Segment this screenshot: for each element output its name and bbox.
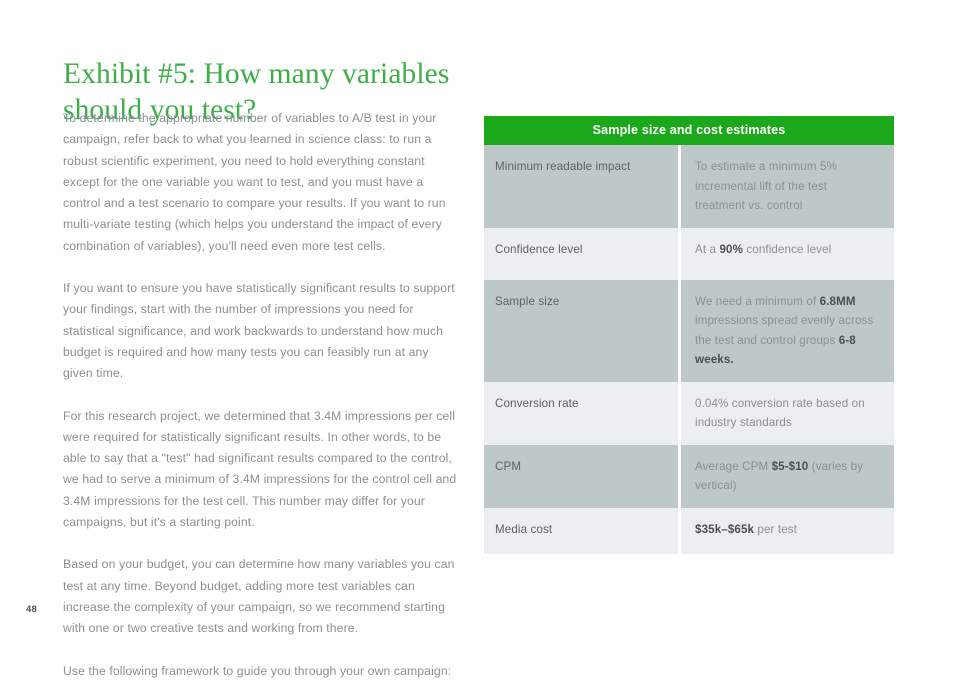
table-body: Minimum readable impactTo estimate a min… (484, 145, 894, 554)
body-paragraph: For this research project, we determined… (63, 406, 459, 534)
table-header-title: Sample size and cost estimates (484, 116, 894, 145)
document-page: Exhibit #5: How many variables should yo… (0, 0, 960, 662)
table-row: Conversion rate0.04% conversion rate bas… (484, 382, 894, 445)
table-cell-value: At a 90% confidence level (681, 228, 894, 280)
table-cell-label: Confidence level (484, 228, 678, 280)
table-row: CPMAverage CPM $5-$10 (varies by vertica… (484, 445, 894, 508)
table-cell-label: Conversion rate (484, 382, 678, 445)
body-paragraph: To determine the appropriate number of v… (63, 108, 459, 257)
table-cell-value: $35k–$65k per test (681, 508, 894, 554)
body-text-column: To determine the appropriate number of v… (63, 108, 459, 682)
table-cell-label: CPM (484, 445, 678, 508)
table-row: Media cost$35k–$65k per test (484, 508, 894, 554)
table-cell-label: Minimum readable impact (484, 145, 678, 228)
table-cell-label: Sample size (484, 280, 678, 382)
body-paragraph: Based on your budget, you can determine … (63, 554, 459, 639)
body-paragraph: Use the following framework to guide you… (63, 661, 459, 682)
body-paragraph: If you want to ensure you have statistic… (63, 278, 459, 384)
table-cell-label: Media cost (484, 508, 678, 554)
table-row: Confidence levelAt a 90% confidence leve… (484, 228, 894, 280)
table-cell-value: Average CPM $5-$10 (varies by vertical) (681, 445, 894, 508)
table-cell-value: 0.04% conversion rate based on industry … (681, 382, 894, 445)
table-cell-value: To estimate a minimum 5% incremental lif… (681, 145, 894, 228)
sample-size-cost-table: Sample size and cost estimates Minimum r… (484, 116, 894, 554)
table-row: Minimum readable impactTo estimate a min… (484, 145, 894, 228)
table-cell-value: We need a minimum of 6.8MM impressions s… (681, 280, 894, 382)
table-row: Sample sizeWe need a minimum of 6.8MM im… (484, 280, 894, 382)
page-number: 48 (26, 604, 37, 615)
